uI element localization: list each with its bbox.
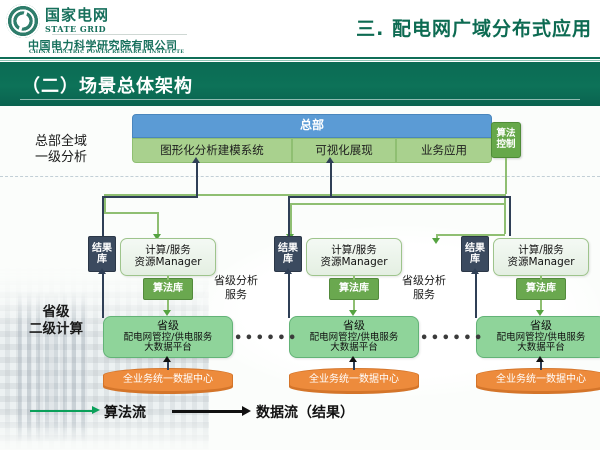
data-link-plat-resdb-b	[288, 272, 290, 318]
hq-module-modeling-system[interactable]: 图形化分析建模系统	[132, 138, 292, 163]
legend-algorithm-flow-label: 算法流	[104, 402, 146, 422]
result-db-c-line2: 库	[470, 254, 480, 265]
state-grid-logo-icon	[6, 4, 40, 38]
institute-name-en: CHINA ELECTRIC POWER RESEARCH INSTITUTE	[29, 49, 184, 55]
brand-text: 国家电网 STATE GRID	[45, 8, 109, 34]
result-db-a-line1: 结果	[92, 243, 112, 254]
algo-link-mgr-lib-c	[540, 276, 542, 280]
legend-algorithm-flow-arrow-icon	[92, 406, 100, 414]
province-platform-c[interactable]: 省级 配电网管控/供电服务 大数据平台	[476, 316, 600, 358]
legend-algorithm-flow-line	[30, 410, 92, 412]
province-platform-c-line3: 大数据平台	[517, 343, 565, 354]
data-flow-riser-b	[330, 163, 332, 184]
brand-divider	[52, 34, 187, 35]
algorithm-control-line2: 控制	[496, 140, 515, 151]
province-platform-a-line3: 大数据平台	[144, 343, 192, 354]
algo-link-mgr-lib-b	[353, 276, 355, 280]
result-db-a[interactable]: 结果 库	[88, 236, 116, 272]
header-rule-thin	[0, 60, 600, 61]
resource-manager-c[interactable]: 计算/服务 资源Manager	[493, 238, 589, 276]
province-platform-b-line1: 省级	[343, 320, 365, 332]
service-label-b-line1: 省级分析	[386, 274, 462, 288]
hq-module-visualization[interactable]: 可视化展现	[292, 138, 396, 163]
data-flow-down-b	[288, 196, 290, 236]
brand-block: 国家电网 STATE GRID	[6, 4, 109, 38]
province-platform-a-line1: 省级	[157, 320, 179, 332]
architecture-diagram: 总部全域 一级分析 省级 二级计算 总部 图形化分析建模系统 可视化展现 业务应…	[0, 106, 600, 450]
service-label-a-line1: 省级分析	[198, 274, 274, 288]
province-platform-b[interactable]: 省级 配电网管控/供电服务 大数据平台	[289, 316, 419, 358]
data-flow-riser-b2	[330, 184, 332, 196]
algo-flow-into-mgr-a	[157, 212, 159, 234]
brand-name-cn: 国家电网	[45, 8, 109, 24]
result-db-c-line1: 结果	[465, 243, 485, 254]
result-db-a-line2: 库	[97, 254, 107, 265]
resource-manager-a[interactable]: 计算/服务 资源Manager	[120, 238, 216, 276]
data-arrow-plat-a	[163, 356, 171, 362]
data-flow-down-a	[102, 196, 104, 236]
data-center-a[interactable]: 全业务统一数据中心	[103, 368, 233, 392]
data-center-c[interactable]: 全业务统一数据中心	[476, 368, 600, 392]
ellipsis-b: ••••••	[420, 331, 485, 346]
brand-name-en: STATE GRID	[45, 24, 109, 34]
result-db-b[interactable]: 结果 库	[274, 236, 302, 272]
data-arrow-plat-b	[349, 356, 357, 362]
tier-label-hq-line2: 一级分析	[8, 150, 114, 166]
data-arrow-plat-c	[536, 356, 544, 362]
resource-manager-a-line2: 资源Manager	[134, 257, 201, 269]
algo-flow-branch-b	[290, 203, 506, 205]
province-platform-c-line1: 省级	[530, 320, 552, 332]
data-center-b[interactable]: 全业务统一数据中心	[289, 368, 419, 392]
legend-data-flow-line	[172, 410, 242, 413]
tier-label-hq-line1: 总部全域	[8, 134, 114, 150]
algo-flow-branch-a-run	[104, 212, 158, 214]
slide-root: 国家电网 STATE GRID 中国电力科学研究院有限公司 CHINA ELEC…	[0, 0, 600, 450]
header-rule-thick	[0, 57, 600, 59]
section-underline	[20, 99, 580, 100]
result-db-c[interactable]: 结果 库	[461, 236, 489, 272]
ellipsis-a: ••••••	[234, 331, 299, 346]
algorithm-lib-b[interactable]: 算法库	[329, 278, 379, 300]
data-flow-run-b	[288, 196, 510, 198]
algorithm-lib-c[interactable]: 算法库	[516, 278, 566, 300]
service-label-a-line2: 服务	[198, 288, 274, 302]
algo-link-lib-plat-c	[540, 300, 542, 310]
algo-link-mgr-lib-a	[167, 276, 169, 280]
service-label-b-line2: 服务	[386, 288, 462, 302]
tier-divider-dashed	[0, 176, 600, 177]
algo-link-lib-plat-a	[167, 300, 169, 310]
resource-manager-b-line2: 资源Manager	[320, 257, 387, 269]
algo-flow-trunk-vertical	[505, 158, 507, 194]
service-label-a: 省级分析 服务	[198, 274, 274, 302]
resource-manager-b[interactable]: 计算/服务 资源Manager	[306, 238, 402, 276]
tier-label-prov-line2: 二级计算	[6, 321, 106, 338]
algorithm-control-box[interactable]: 算法 控制	[491, 122, 521, 158]
data-flow-arrow-hq-a	[192, 157, 200, 163]
data-arrow-resdb-a	[98, 268, 106, 274]
data-link-plat-resdb-a	[102, 272, 104, 318]
section-title: （二）场景总体架构	[22, 72, 193, 98]
algo-flow-arrow-mgr-c	[432, 238, 440, 244]
data-flow-run-a	[102, 196, 198, 198]
tier-label-prov-line1: 省级	[6, 304, 106, 321]
legend-data-flow-label: 数据流（结果）	[256, 402, 354, 422]
data-arrow-resdb-c	[471, 268, 479, 274]
slide-header: 国家电网 STATE GRID 中国电力科学研究院有限公司 CHINA ELEC…	[0, 0, 600, 56]
tier-label-headquarters: 总部全域 一级分析	[8, 134, 114, 167]
algo-flow-drop-c	[504, 194, 506, 234]
result-db-b-line1: 结果	[278, 243, 298, 254]
algo-flow-into-mgr-b	[290, 203, 292, 234]
province-platform-a[interactable]: 省级 配电网管控/供电服务 大数据平台	[103, 316, 233, 358]
service-label-b: 省级分析 服务	[386, 274, 462, 302]
tier-label-province: 省级 二级计算	[6, 304, 106, 338]
resource-manager-c-line2: 资源Manager	[507, 257, 574, 269]
algo-link-lib-plat-b	[353, 300, 355, 310]
headquarters-box[interactable]: 总部	[132, 114, 492, 138]
data-arrow-resdb-b	[284, 268, 292, 274]
province-platform-b-line3: 大数据平台	[330, 343, 378, 354]
page-title: 三. 配电网广域分布式应用	[356, 14, 592, 41]
data-flow-down-c	[509, 196, 511, 236]
data-flow-riser-a	[196, 163, 198, 184]
hq-module-business-app[interactable]: 业务应用	[396, 138, 492, 163]
result-db-b-line2: 库	[283, 254, 293, 265]
data-link-plat-resdb-c	[475, 272, 477, 318]
data-flow-riser-a2	[196, 184, 198, 196]
data-flow-arrow-hq-b	[326, 157, 334, 163]
legend-data-flow-arrow-icon	[242, 406, 251, 416]
algorithm-lib-a[interactable]: 算法库	[143, 278, 193, 300]
